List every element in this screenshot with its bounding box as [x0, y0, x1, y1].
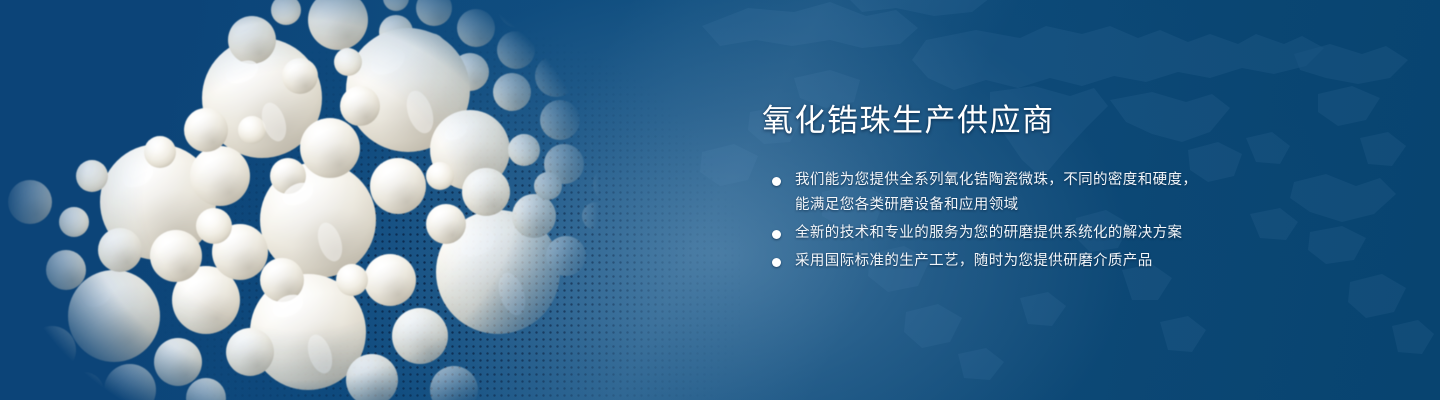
bullet-dot-icon [772, 258, 781, 267]
banner-copy: 氧化锆珠生产供应商 我们能为您提供全系列氧化锆陶瓷微珠，不同的密度和硬度， 能满… [762, 104, 1402, 277]
list-item: 采用国际标准的生产工艺，随时为您提供研磨介质产品 [762, 249, 1402, 274]
list-item-line: 全新的技术和专业的服务为您的研磨提供系统化的解决方案 [795, 221, 1402, 246]
hero-banner: 氧化锆珠生产供应商 我们能为您提供全系列氧化锆陶瓷微珠，不同的密度和硬度， 能满… [0, 0, 1440, 400]
feature-list: 我们能为您提供全系列氧化锆陶瓷微珠，不同的密度和硬度， 能满足您各类研磨设备和应… [762, 168, 1402, 274]
list-item: 全新的技术和专业的服务为您的研磨提供系统化的解决方案 [762, 221, 1402, 246]
list-item-line: 我们能为您提供全系列氧化锆陶瓷微珠，不同的密度和硬度， [795, 168, 1402, 193]
list-item-line: 能满足您各类研磨设备和应用领域 [795, 193, 1402, 218]
bullet-dot-icon [772, 177, 781, 186]
list-item-line: 采用国际标准的生产工艺，随时为您提供研磨介质产品 [795, 249, 1402, 274]
list-item: 我们能为您提供全系列氧化锆陶瓷微珠，不同的密度和硬度， 能满足您各类研磨设备和应… [762, 168, 1402, 218]
bullet-dot-icon [772, 230, 781, 239]
page-title: 氧化锆珠生产供应商 [762, 104, 1402, 138]
